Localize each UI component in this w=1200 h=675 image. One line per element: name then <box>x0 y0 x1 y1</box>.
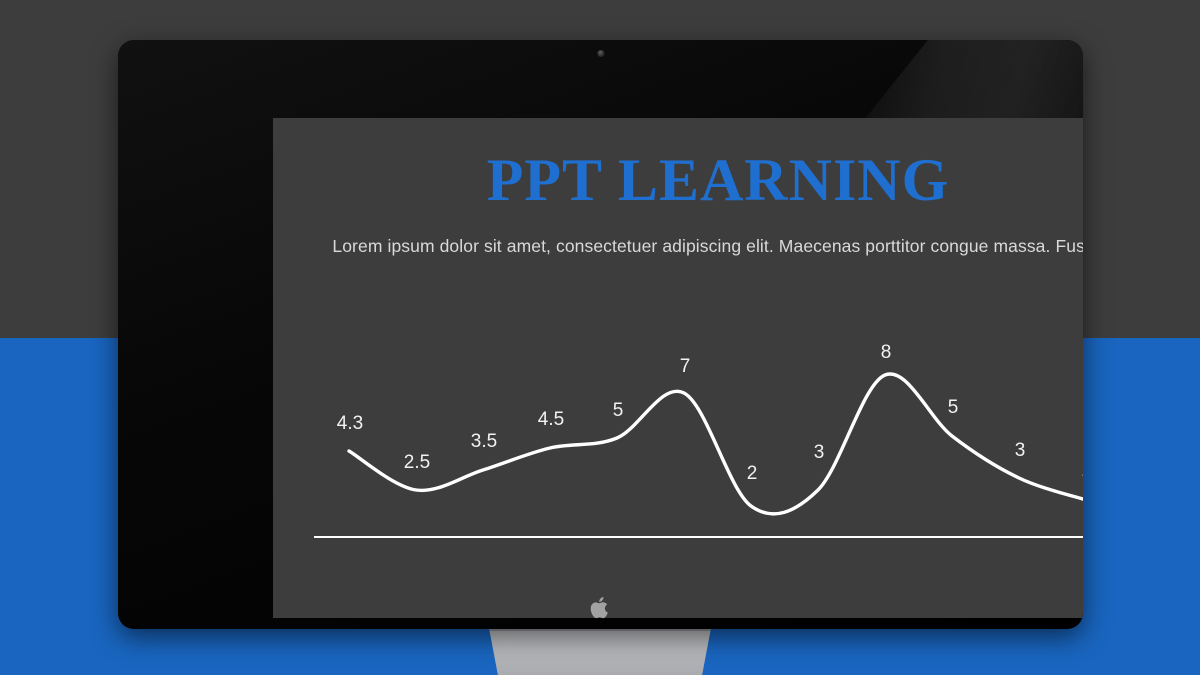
chart-data-label: 2 <box>747 463 758 484</box>
chart-data-labels: 4.32.53.54.557238532 <box>337 342 1083 484</box>
chart-data-label: 8 <box>881 342 892 363</box>
chart-data-label: 5 <box>613 400 624 421</box>
chart-data-label: 3 <box>1015 440 1026 461</box>
screen-content: PPT LEARNING Lorem ipsum dolor sit amet,… <box>273 118 1083 618</box>
chart-data-label: 7 <box>680 356 691 377</box>
line-chart: 4.32.53.54.557238532 <box>273 118 1083 618</box>
line-chart-svg: 4.32.53.54.557238532 <box>273 118 1083 618</box>
chart-data-label: 2.5 <box>404 452 430 473</box>
chart-data-label: 2 <box>1082 460 1083 481</box>
screenshot-root: PPT LEARNING Lorem ipsum dolor sit amet,… <box>0 0 1200 675</box>
chart-data-label: 5 <box>948 397 959 418</box>
chart-data-label: 3 <box>814 442 825 463</box>
chart-data-label: 4.5 <box>538 409 564 430</box>
camera-icon <box>597 50 604 57</box>
chart-data-label: 4.3 <box>337 413 363 434</box>
imac-monitor: PPT LEARNING Lorem ipsum dolor sit amet,… <box>118 40 1083 629</box>
chart-line-path <box>349 374 1083 514</box>
chart-data-label: 3.5 <box>471 431 497 452</box>
apple-logo-icon <box>590 595 612 621</box>
monitor-stand <box>489 628 711 675</box>
